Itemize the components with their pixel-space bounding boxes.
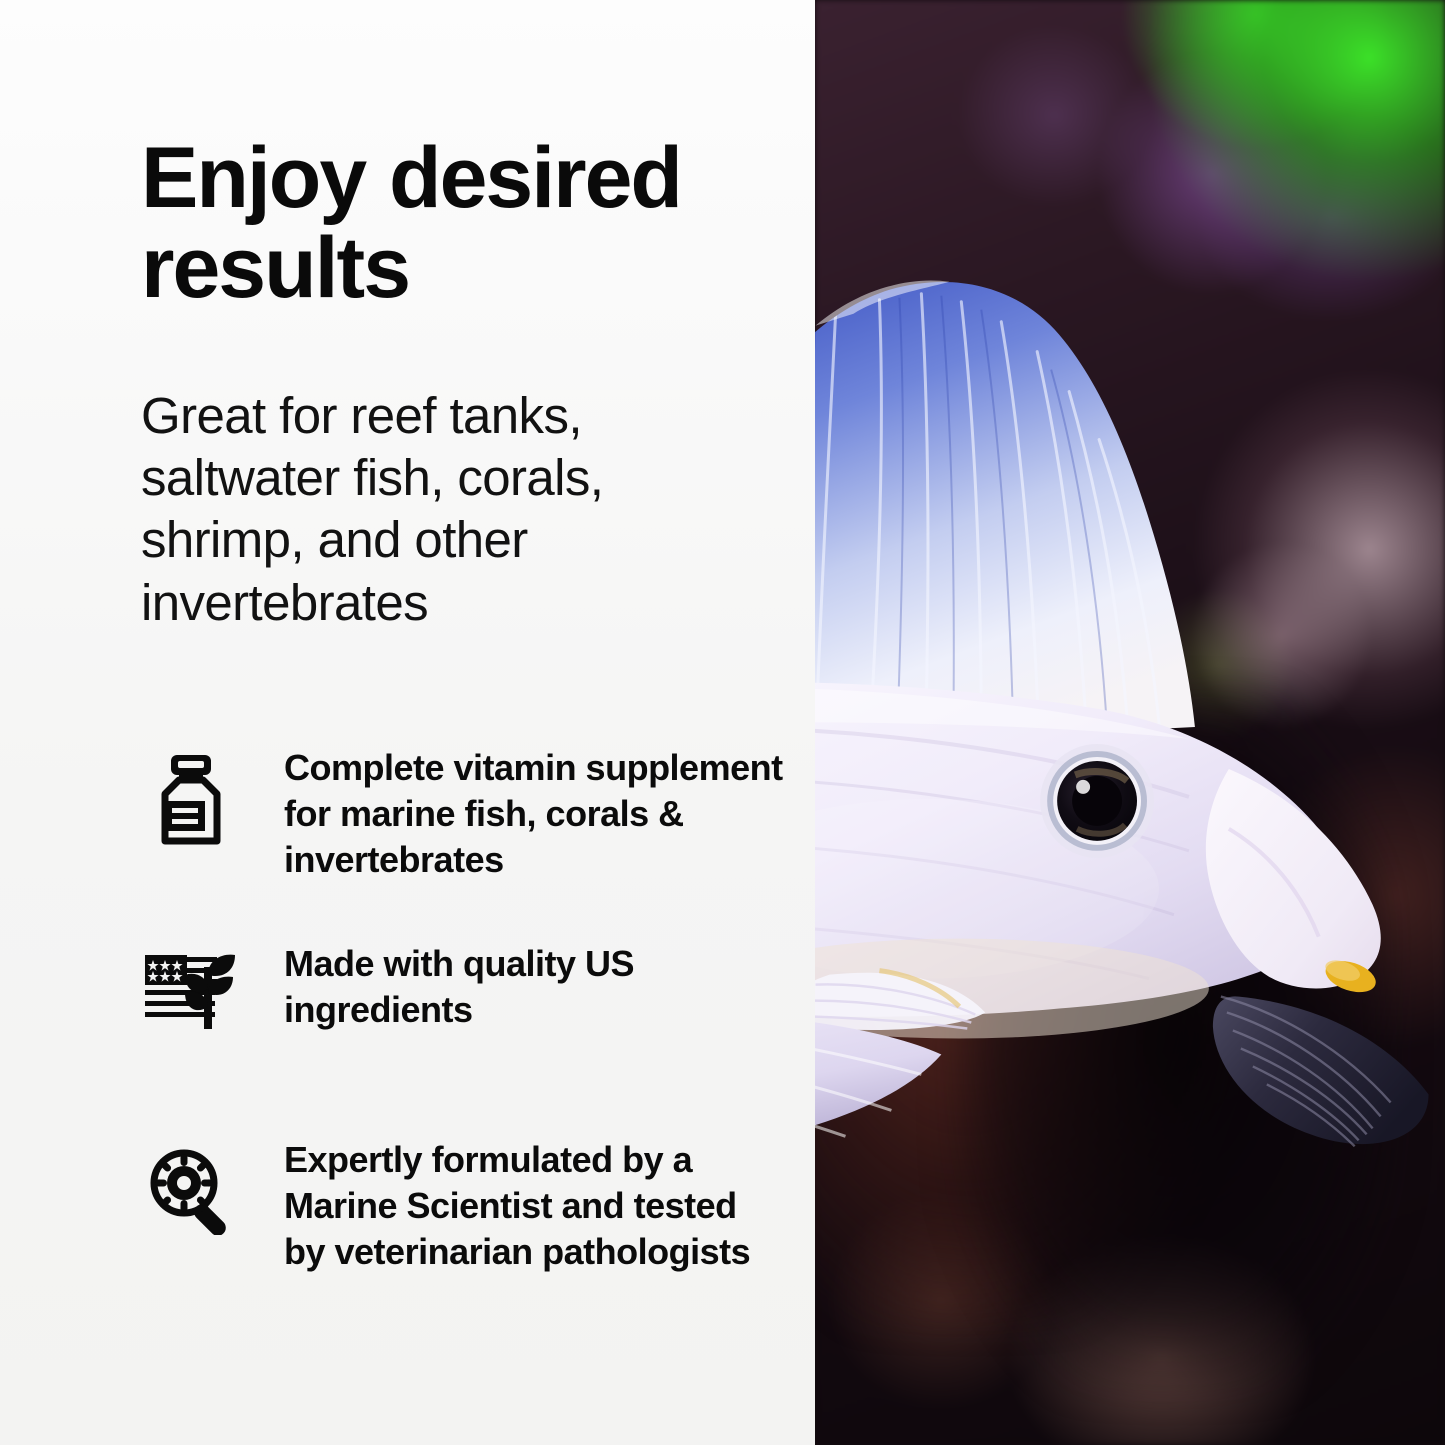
text-panel: Enjoy desired results Great for reef tan… bbox=[0, 0, 815, 1445]
product-infographic: Enjoy desired results Great for reef tan… bbox=[0, 0, 1445, 1445]
reef-aquarium-scene bbox=[815, 0, 1445, 1445]
page-title: Enjoy desired results bbox=[141, 133, 801, 314]
feature-item-supplement: Complete vitamin supplement for marine f… bbox=[141, 745, 784, 883]
feature-label: Made with quality US ingredients bbox=[241, 941, 784, 1033]
feature-item-expert-formulated: Expertly formulated by a Marine Scientis… bbox=[141, 1137, 784, 1275]
feature-label: Complete vitamin supplement for marine f… bbox=[241, 745, 784, 883]
page-subtitle: Great for reef tanks, saltwater fish, co… bbox=[141, 385, 741, 634]
dorsal-fin bbox=[815, 281, 1195, 749]
product-photo bbox=[815, 0, 1445, 1445]
white-tang-fish bbox=[815, 130, 1432, 1228]
feature-label: Expertly formulated by a Marine Scientis… bbox=[241, 1137, 784, 1275]
magnifier-microbe-icon bbox=[141, 1137, 241, 1233]
supplement-bottle-icon bbox=[141, 745, 241, 841]
us-flag-plant-icon bbox=[141, 941, 241, 1037]
fish-eye bbox=[1040, 744, 1154, 858]
feature-item-us-ingredients: Made with quality US ingredients bbox=[141, 941, 784, 1037]
dark-striped-fin bbox=[1213, 996, 1429, 1146]
